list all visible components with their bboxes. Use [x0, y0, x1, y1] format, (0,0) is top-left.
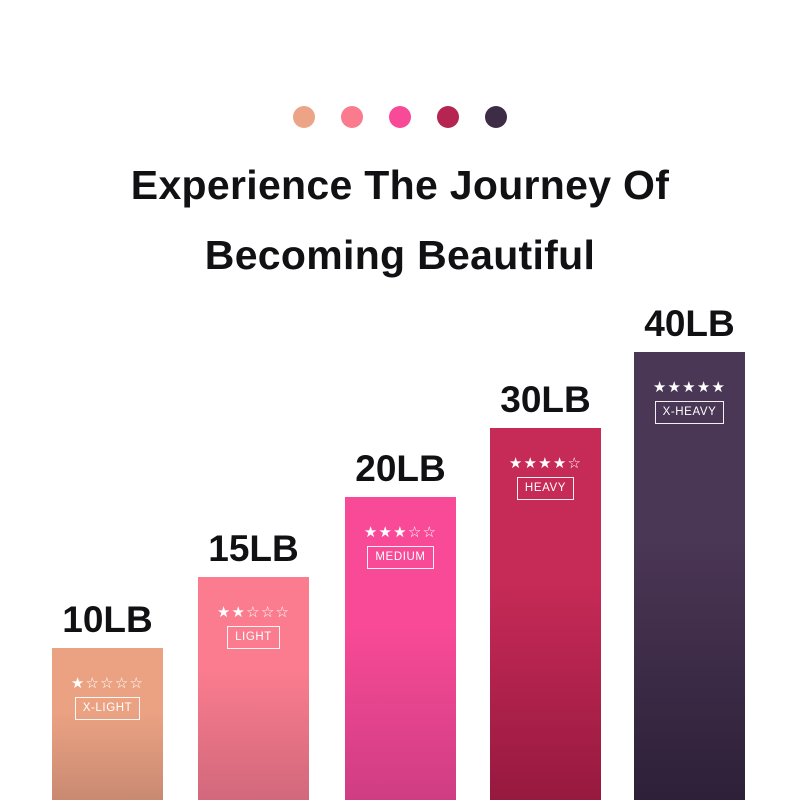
bar-10lb-weight-label: 10LB	[62, 601, 152, 638]
bar-20lb-tier-label: MEDIUM	[367, 546, 433, 570]
bar-10lb-badge: ★☆☆☆☆X-LIGHT	[62, 676, 154, 721]
bar-40lb-star-rating-icon: ★★★★★	[644, 380, 736, 396]
bar-15lb-badge: ★★☆☆☆LIGHT	[208, 605, 300, 650]
bar-30lb-weight-label: 30LB	[500, 381, 590, 418]
bar-20lb-weight-label: 20LB	[355, 450, 445, 487]
bar-group-bar-15lb[interactable]: ★★☆☆☆LIGHT15LB	[198, 517, 309, 800]
bar-20lb-star-rating-icon: ★★★☆☆	[355, 525, 447, 541]
bar-30lb-star-rating-icon: ★★★★☆	[500, 456, 592, 472]
bar-group-bar-20lb[interactable]: ★★★☆☆MEDIUM20LB	[345, 437, 456, 800]
bar-20lb-badge: ★★★☆☆MEDIUM	[355, 525, 447, 570]
bar-15lb-tier-label: LIGHT	[227, 626, 280, 650]
resistance-bar-chart: ★☆☆☆☆X-LIGHT10LB★★☆☆☆LIGHT15LB★★★☆☆MEDIU…	[0, 0, 800, 800]
bar-30lb-tier-label: HEAVY	[517, 477, 574, 501]
bar-10lb-star-rating-icon: ★☆☆☆☆	[62, 676, 154, 692]
bar-40lb-badge: ★★★★★X-HEAVY	[644, 380, 736, 425]
bar-40lb-tier-label: X-HEAVY	[655, 401, 725, 425]
bar-group-bar-10lb[interactable]: ★☆☆☆☆X-LIGHT10LB	[52, 588, 163, 800]
bar-10lb[interactable]	[52, 648, 163, 800]
bar-15lb-weight-label: 15LB	[208, 530, 298, 567]
bar-40lb-weight-label: 40LB	[644, 305, 734, 342]
bar-group-bar-40lb[interactable]: ★★★★★X-HEAVY40LB	[634, 292, 745, 800]
bar-group-bar-30lb[interactable]: ★★★★☆HEAVY30LB	[490, 368, 601, 800]
bar-30lb-badge: ★★★★☆HEAVY	[500, 456, 592, 501]
bar-15lb-star-rating-icon: ★★☆☆☆	[208, 605, 300, 621]
product-poster: Experience The Journey Of Becoming Beaut…	[0, 0, 800, 800]
bar-10lb-tier-label: X-LIGHT	[75, 697, 141, 721]
